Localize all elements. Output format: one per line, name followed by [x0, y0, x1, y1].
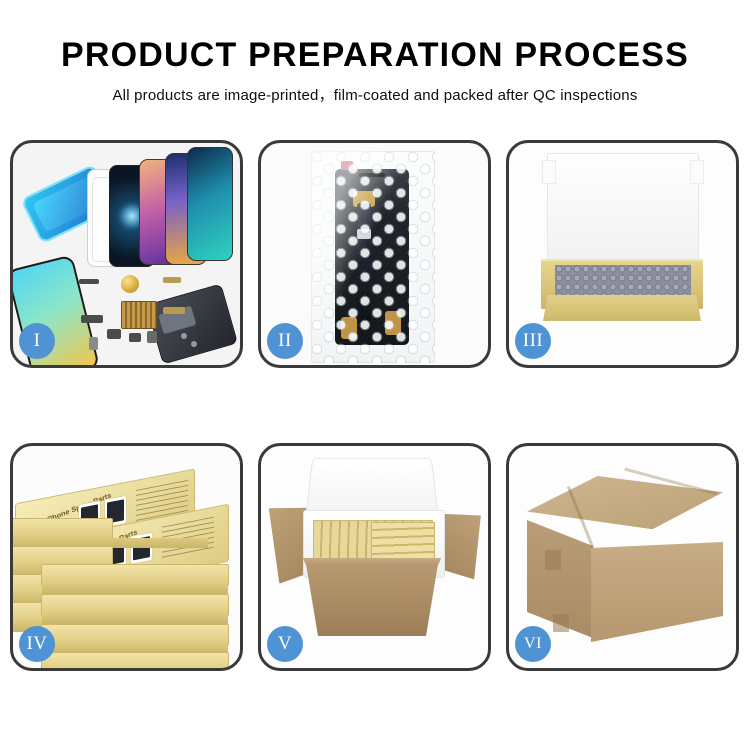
part-icon	[163, 277, 181, 283]
part-icon	[81, 315, 103, 323]
speaker-part-icon	[121, 275, 139, 293]
stacked-box	[41, 652, 229, 668]
screw-icon	[181, 333, 187, 339]
part-icon	[163, 307, 185, 314]
step-panel-1: I	[10, 140, 243, 368]
stacked-box	[41, 594, 229, 616]
stacked-box	[41, 564, 229, 586]
step-badge-3: III	[515, 323, 551, 359]
step-card-5: V	[258, 443, 491, 671]
box-art-phone-icon	[130, 532, 153, 565]
small-parts-group	[77, 271, 207, 363]
shipping-box-icon	[527, 476, 723, 642]
part-icon	[89, 337, 98, 350]
step-card-6: VI	[506, 443, 739, 671]
step-panel-2: II	[258, 140, 491, 368]
part-icon	[107, 329, 121, 339]
page-subtitle: All products are image-printed，film-coat…	[0, 84, 750, 105]
step-badge-6: VI	[515, 626, 551, 662]
step-badge-5: V	[267, 626, 303, 662]
stacked-box	[41, 624, 229, 646]
plastic-sheen	[311, 151, 435, 363]
step-panel-4: Mobile Phone Spare Parts Mobile Phone Sp…	[10, 443, 243, 671]
step-badge-4: IV	[19, 626, 55, 662]
step-panel-5: V	[258, 443, 491, 671]
screw-icon	[191, 341, 197, 347]
part-icon	[147, 331, 157, 343]
part-icon	[79, 279, 99, 284]
step-card-3: III	[506, 140, 739, 368]
carton-body-icon	[297, 564, 447, 636]
foam-lid-icon	[305, 458, 439, 516]
step-card-4: Mobile Phone Spare Parts Mobile Phone Sp…	[10, 443, 243, 671]
box-lid-icon	[547, 153, 699, 273]
step-card-2: II	[258, 140, 491, 368]
page-title: PRODUCT PREPARATION PROCESS	[0, 36, 750, 75]
header: PRODUCT PREPARATION PROCESS All products…	[0, 0, 750, 122]
box-front-face	[543, 295, 701, 321]
bubble-bag	[311, 151, 435, 363]
step-card-1: I	[10, 140, 243, 368]
box-tape-mark	[545, 550, 561, 570]
box-right-face	[591, 542, 723, 642]
step-panel-6: VI	[506, 443, 739, 671]
teal-phone-icon	[187, 147, 233, 261]
stacked-box	[13, 518, 113, 540]
box-tape-mark	[553, 614, 569, 632]
product-preparation-infographic: PRODUCT PREPARATION PROCESS All products…	[0, 0, 750, 750]
step-badge-1: I	[19, 323, 55, 359]
steps-grid: I	[0, 140, 750, 685]
step-badge-2: II	[267, 323, 303, 359]
part-icon	[129, 333, 141, 342]
step-panel-3: III	[506, 140, 739, 368]
bubble-wrap-filler-icon	[555, 265, 691, 297]
screw-tray-icon	[121, 301, 157, 329]
